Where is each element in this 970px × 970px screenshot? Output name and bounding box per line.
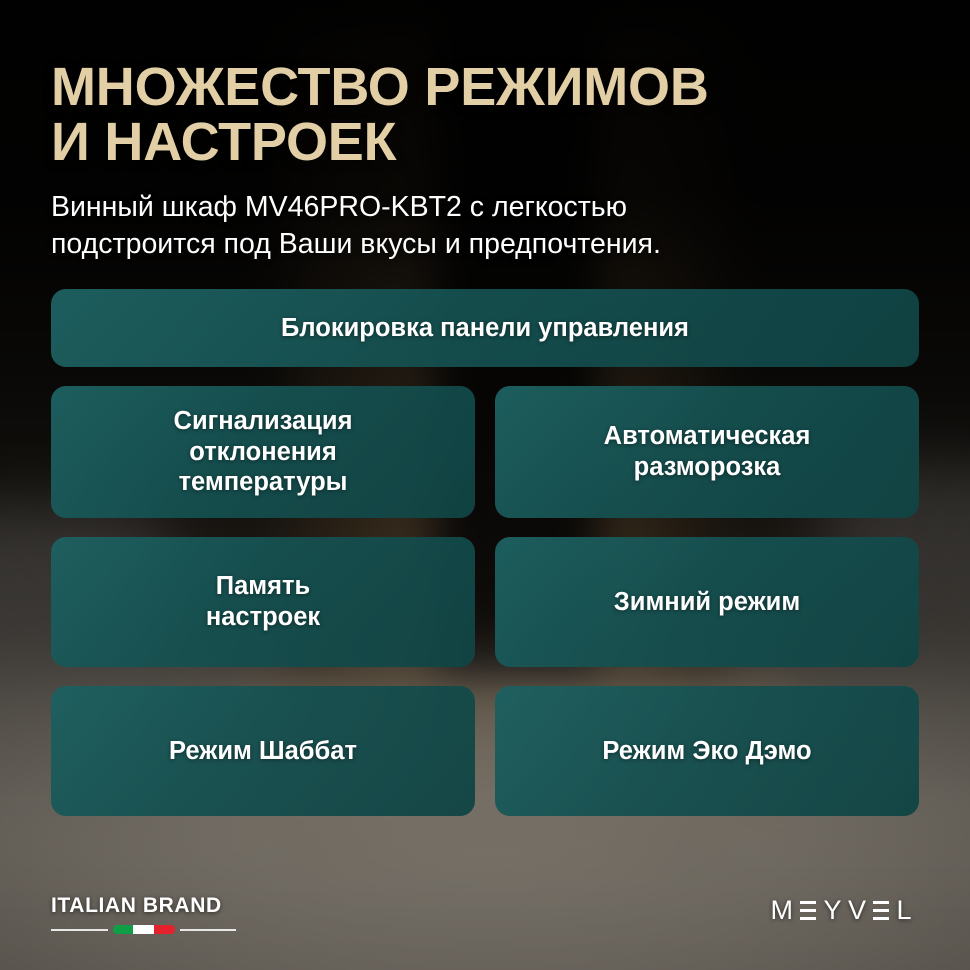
logo-letter-y: Y bbox=[823, 895, 845, 926]
meyvel-logo: M Y V L bbox=[770, 895, 915, 926]
logo-letter-m: M bbox=[770, 895, 796, 926]
italian-brand-label: ITALIAN BRAND bbox=[51, 894, 351, 918]
feature-card-sabbath-mode[interactable]: Режим Шаббат bbox=[51, 686, 475, 816]
page-subtitle: Винный шкаф MV46PRO-KBT2 с легкостью под… bbox=[51, 189, 861, 264]
feature-row-2: Сигнализация отклонения температуры Авто… bbox=[51, 386, 919, 518]
logo-letter-l: L bbox=[896, 895, 915, 926]
flag-stripe-red bbox=[154, 925, 175, 934]
poster-content: МНОЖЕСТВО РЕЖИМОВ И НАСТРОЕК Винный шкаф… bbox=[0, 0, 970, 970]
rule-left bbox=[51, 929, 108, 931]
feature-card-settings-memory[interactable]: Память настроек bbox=[51, 537, 475, 667]
feature-card-grid: Блокировка панели управления Сигнализаци… bbox=[51, 289, 919, 816]
feature-row-1: Блокировка панели управления bbox=[51, 289, 919, 367]
flag-stripe-white bbox=[133, 925, 154, 934]
feature-card-temperature-alarm[interactable]: Сигнализация отклонения температуры bbox=[51, 386, 475, 518]
feature-row-3: Память настроек Зимний режим bbox=[51, 537, 919, 667]
page-title: МНОЖЕСТВО РЕЖИМОВ И НАСТРОЕК bbox=[51, 60, 931, 170]
logo-letter-e-first-icon bbox=[800, 901, 816, 920]
rule-right bbox=[180, 929, 237, 931]
logo-letter-e-second-icon bbox=[873, 901, 889, 920]
feature-card-control-panel-lock[interactable]: Блокировка панели управления bbox=[51, 289, 919, 367]
feature-card-auto-defrost[interactable]: Автоматическая разморозка bbox=[495, 386, 919, 518]
flag-stripe-green bbox=[113, 925, 134, 934]
promo-poster: МНОЖЕСТВО РЕЖИМОВ И НАСТРОЕК Винный шкаф… bbox=[0, 0, 970, 970]
italian-flag-rule bbox=[51, 925, 236, 934]
italian-brand-badge: ITALIAN BRAND bbox=[51, 894, 351, 934]
feature-row-4: Режим Шаббат Режим Эко Дэмо bbox=[51, 686, 919, 816]
feature-card-eco-demo-mode[interactable]: Режим Эко Дэмо bbox=[495, 686, 919, 816]
italy-flag-icon bbox=[113, 925, 175, 934]
feature-card-winter-mode[interactable]: Зимний режим bbox=[495, 537, 919, 667]
logo-letter-v: V bbox=[848, 895, 870, 926]
